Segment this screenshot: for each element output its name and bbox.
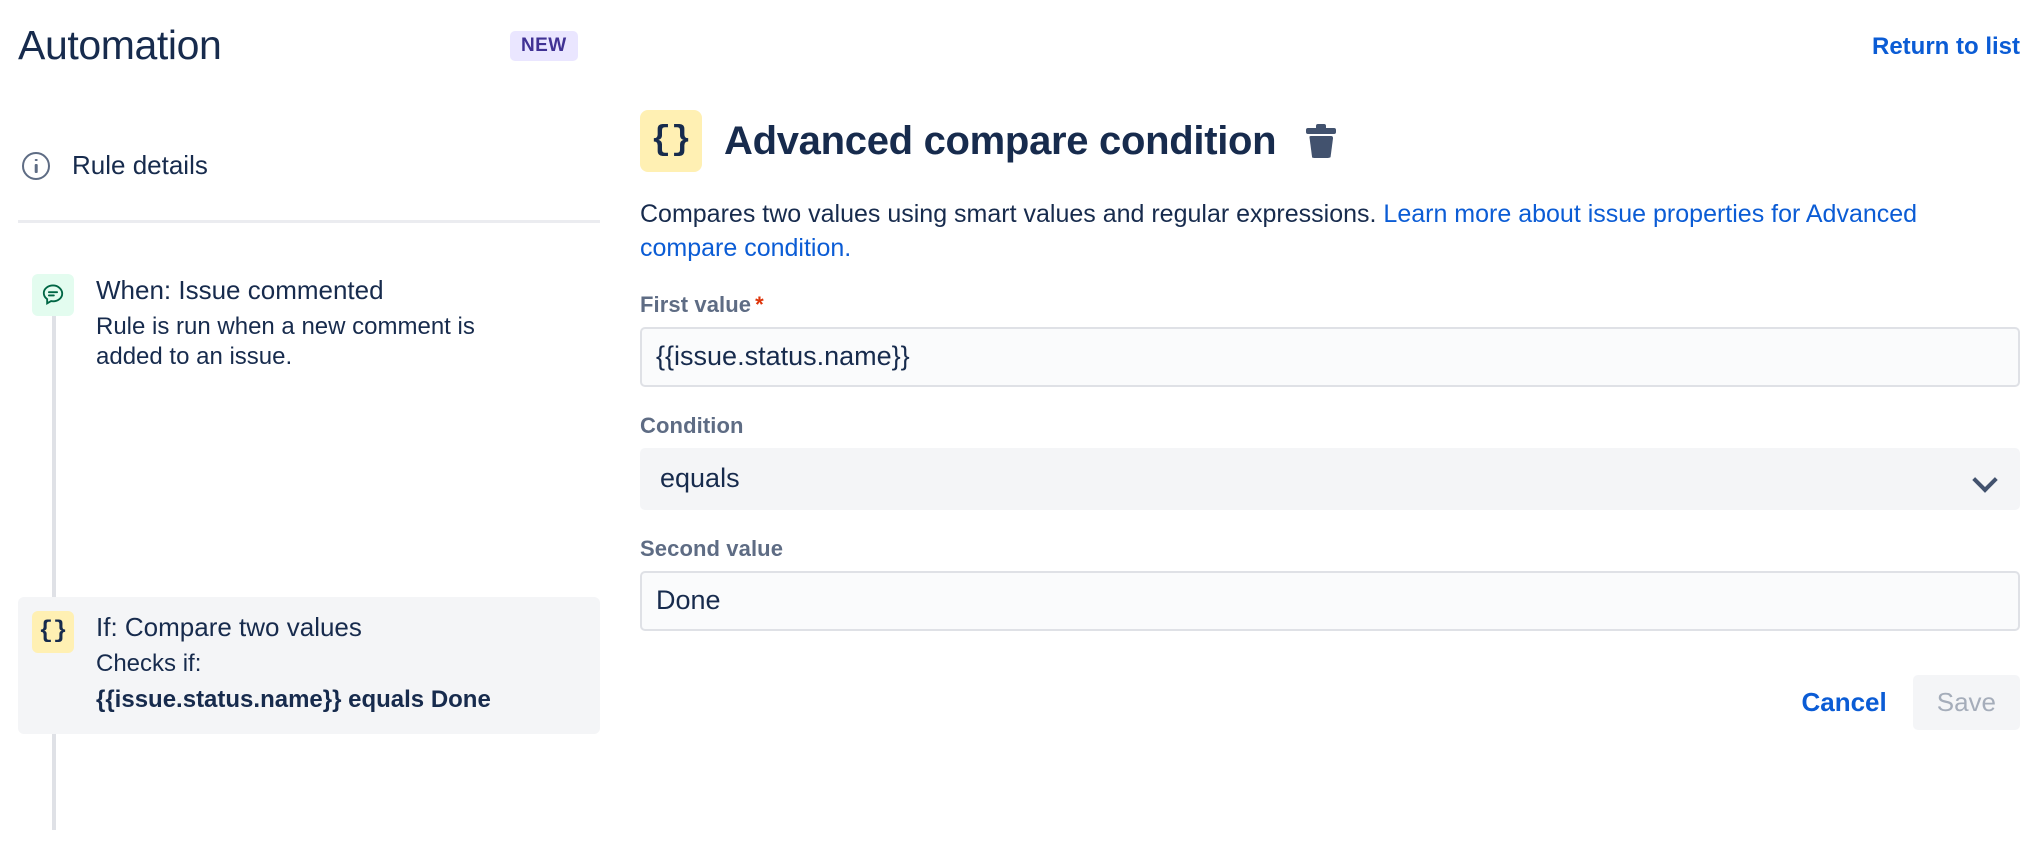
sidebar-divider xyxy=(18,220,600,223)
required-asterisk: * xyxy=(755,292,764,317)
trash-lid xyxy=(1306,128,1336,134)
first-value-input[interactable]: {{issue.status.name}} xyxy=(640,327,2020,387)
chevron-down-icon xyxy=(1974,468,1996,490)
second-value-input[interactable]: Done xyxy=(640,571,2020,631)
rule-node-condition[interactable]: {} If: Compare two values Checks if: {{i… xyxy=(18,597,600,734)
panel-description: Compares two values using smart values a… xyxy=(640,198,2015,266)
curly-braces-glyph: {} xyxy=(651,124,692,158)
rule-node-condition-summary: {{issue.status.name}} equals Done xyxy=(96,685,491,716)
trash-icon[interactable] xyxy=(1306,124,1336,158)
condition-select[interactable]: equals xyxy=(640,448,2020,510)
rule-node-trigger-body: When: Issue commented Rule is run when a… xyxy=(96,274,516,373)
rule-node-condition-description: Checks if: xyxy=(96,649,491,680)
condition-label: Condition xyxy=(640,413,744,439)
field-second-value: Second value Done xyxy=(640,536,2020,631)
curly-braces-glyph: {} xyxy=(39,620,68,644)
return-to-list-link[interactable]: Return to list xyxy=(1872,33,2020,61)
rule-node-trigger[interactable]: When: Issue commented Rule is run when a… xyxy=(18,260,600,391)
new-badge: NEW xyxy=(510,31,578,61)
curly-braces-icon: {} xyxy=(32,611,74,653)
comment-icon xyxy=(32,274,74,316)
curly-braces-icon: {} xyxy=(640,110,702,172)
page-title: Automation xyxy=(18,22,221,69)
panel-header: {} Advanced compare condition xyxy=(640,110,2020,172)
field-condition: Condition equals xyxy=(640,413,2020,510)
second-value-label: Second value xyxy=(640,536,783,562)
rule-details-label: Rule details xyxy=(72,150,208,181)
automation-rule-editor: Automation NEW Return to list Rule detai… xyxy=(0,0,2038,850)
cancel-button[interactable]: Cancel xyxy=(1785,677,1902,728)
rule-node-condition-title: If: Compare two values xyxy=(96,612,491,643)
panel-title: Advanced compare condition xyxy=(724,119,1276,164)
panel-description-text: Compares two values using smart values a… xyxy=(640,200,1383,228)
rule-node-trigger-description: Rule is run when a new comment is added … xyxy=(96,312,516,373)
save-button[interactable]: Save xyxy=(1913,675,2020,730)
trash-can xyxy=(1309,136,1333,158)
page-header: Automation NEW Return to list xyxy=(0,0,2038,80)
sidebar-item-rule-details[interactable]: Rule details xyxy=(22,150,208,181)
rule-chain-sidebar: Rule details When: Issue commented Rule … xyxy=(0,110,600,850)
field-first-value: First value* {{issue.status.name}} xyxy=(640,292,2020,387)
condition-config-panel: {} Advanced compare condition Compares t… xyxy=(640,110,2020,730)
panel-actions: Cancel Save xyxy=(640,675,2020,730)
rule-node-trigger-title: When: Issue commented xyxy=(96,275,516,306)
rule-node-condition-body: If: Compare two values Checks if: {{issu… xyxy=(96,611,491,716)
first-value-label: First value xyxy=(640,292,751,318)
info-icon xyxy=(22,152,50,180)
condition-selected-value: equals xyxy=(660,463,740,494)
